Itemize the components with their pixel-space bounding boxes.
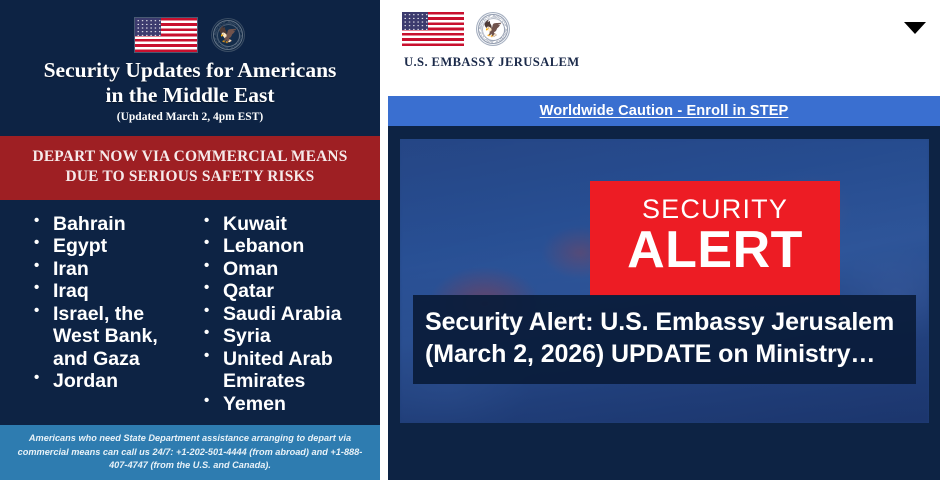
worldwide-caution-link[interactable]: Worldwide Caution - Enroll in STEP bbox=[540, 103, 789, 119]
worldwide-caution-bar[interactable]: Worldwide Caution - Enroll in STEP bbox=[388, 96, 940, 128]
chevron-down-icon[interactable] bbox=[904, 22, 926, 34]
security-alert-badge-top: SECURITY bbox=[642, 196, 788, 223]
list-item: Israel, the West Bank, and Gaza bbox=[34, 303, 190, 371]
list-item: Oman bbox=[204, 258, 380, 281]
us-flag-icon bbox=[402, 12, 464, 46]
list-item: Saudi Arabia bbox=[204, 303, 380, 326]
security-updates-graphic: 🦅 Security Updates for Americans in the … bbox=[0, 0, 380, 480]
page-title-line2: in the Middle East bbox=[18, 83, 362, 108]
page-root: 🦅 Security Updates for Americans in the … bbox=[0, 0, 940, 480]
list-item: Kuwait bbox=[204, 213, 380, 236]
embassy-logo-row: 🦅 bbox=[402, 12, 940, 46]
assistance-footer-note: Americans who need State Department assi… bbox=[0, 425, 380, 480]
depart-now-banner: DEPART NOW VIA COMMERCIAL MEANS DUE TO S… bbox=[0, 136, 380, 200]
list-item: Egypt bbox=[34, 235, 190, 258]
list-item: Iran bbox=[34, 258, 190, 281]
embassy-page-panel: 🦅 U.S. EMBASSY JERUSALEM Worldwide Cauti… bbox=[388, 0, 940, 480]
list-item: Yemen bbox=[204, 393, 380, 416]
state-department-seal-icon: 🦅 bbox=[476, 12, 510, 46]
panel-divider bbox=[380, 0, 388, 480]
security-alert-badge-bottom: ALERT bbox=[627, 224, 803, 278]
page-title-line1: Security Updates for Americans bbox=[18, 58, 362, 83]
depart-now-banner-line1: DEPART NOW VIA COMMERCIAL MEANS bbox=[10, 147, 370, 167]
country-list-column-right: Kuwait Lebanon Oman Qatar Saudi Arabia S… bbox=[190, 213, 380, 425]
list-item: Qatar bbox=[204, 280, 380, 303]
page-title: Security Updates for Americans in the Mi… bbox=[0, 58, 380, 108]
left-logo-row: 🦅 bbox=[0, 0, 380, 52]
list-item: Lebanon bbox=[204, 235, 380, 258]
list-item: Jordan bbox=[34, 370, 190, 393]
page-subtitle: (Updated March 2, 4pm EST) bbox=[0, 111, 380, 125]
list-item: Bahrain bbox=[34, 213, 190, 236]
list-item: United Arab Emirates bbox=[204, 348, 380, 393]
embassy-body: SECURITY ALERT Security Alert: U.S. Emba… bbox=[388, 128, 940, 480]
embassy-title: U.S. EMBASSY JERUSALEM bbox=[404, 55, 940, 70]
hero-headline-box[interactable]: Security Alert: U.S. Embassy Jerusalem (… bbox=[413, 295, 916, 384]
country-lists: Bahrain Egypt Iran Iraq Israel, the West… bbox=[0, 200, 380, 425]
list-item: Iraq bbox=[34, 280, 190, 303]
security-alert-hero[interactable]: SECURITY ALERT Security Alert: U.S. Emba… bbox=[400, 139, 929, 423]
us-flag-icon bbox=[135, 18, 197, 52]
depart-now-banner-line2: DUE TO SERIOUS SAFETY RISKS bbox=[10, 167, 370, 187]
hero-headline-text: Security Alert: U.S. Embassy Jerusalem (… bbox=[425, 307, 902, 370]
state-department-seal-icon: 🦅 bbox=[211, 18, 245, 52]
embassy-header: 🦅 U.S. EMBASSY JERUSALEM bbox=[388, 0, 940, 96]
country-list-column-left: Bahrain Egypt Iran Iraq Israel, the West… bbox=[0, 213, 190, 425]
list-item: Syria bbox=[204, 325, 380, 348]
security-alert-badge: SECURITY ALERT bbox=[590, 181, 840, 296]
